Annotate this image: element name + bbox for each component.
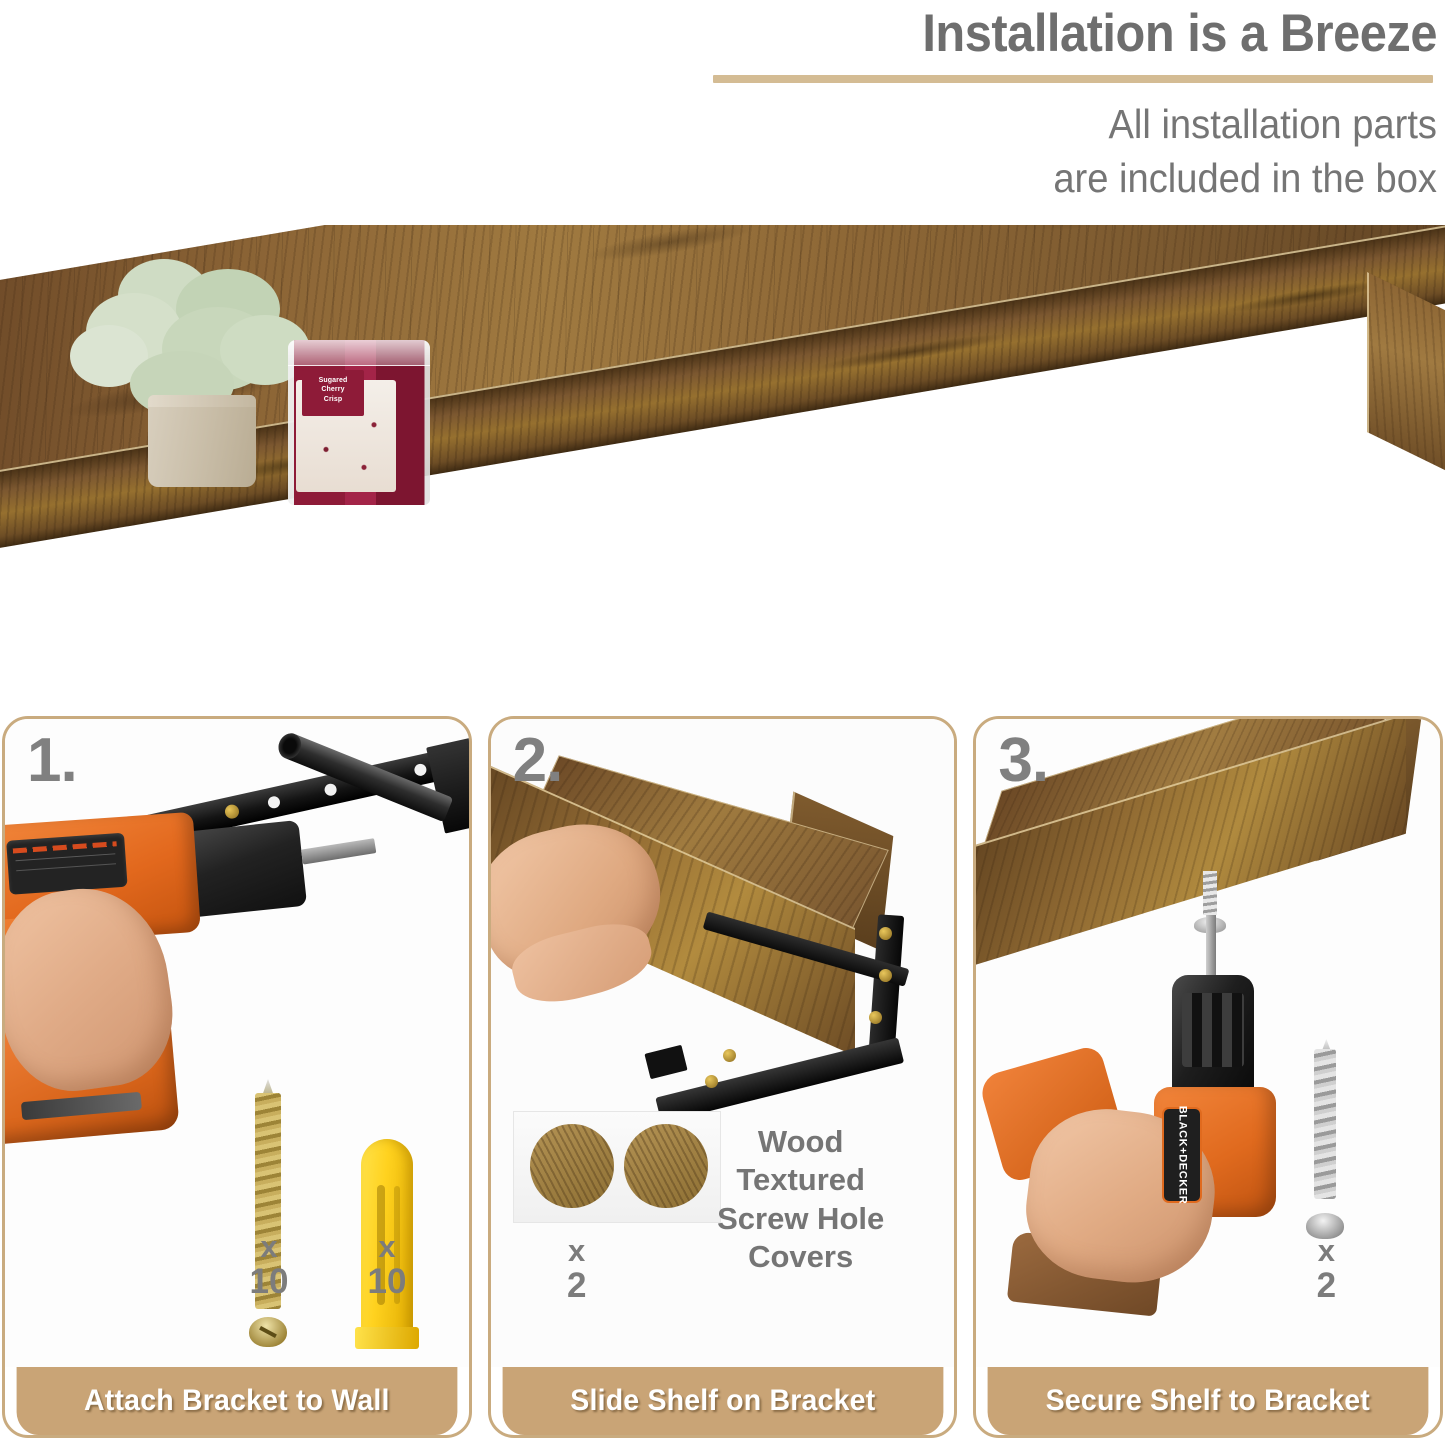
step-1-illustration: x 10 x 10 1. <box>5 719 469 1367</box>
step-2-illustration: x 2 Wood Textured Screw Hole Covers 2. <box>491 719 955 1367</box>
step-caption-1: Attach Bracket to Wall <box>17 1367 457 1435</box>
qty-value: 10 <box>250 1262 289 1301</box>
step-caption-2: Slide Shelf on Bracket <box>502 1367 942 1435</box>
step-caption-3: Secure Shelf to Bracket <box>988 1367 1428 1435</box>
qty-value: 2 <box>1317 1266 1336 1305</box>
header-subtitle-line-2: are included in the box <box>659 153 1437 205</box>
drill-spec-label <box>6 833 127 895</box>
hero-product-photo: Sugared Cherry Crisp <box>0 225 1445 675</box>
step-3-illustration: BLACK+DECKER x 2 3. <box>976 719 1440 1367</box>
screw-hole-covers-card <box>513 1111 721 1223</box>
title-underline-rule <box>713 75 1433 83</box>
steps-row: x 10 x 10 1. Attach Bracket to Wall <box>0 716 1445 1438</box>
securing-screw-quantity: x 2 <box>1288 1235 1364 1304</box>
decor-jar: Sugared Cherry Crisp <box>288 340 430 505</box>
jar-label-text: Sugared Cherry Crisp <box>302 370 364 416</box>
qty-value: 2 <box>567 1266 586 1305</box>
page-title: Installation is a Breeze <box>667 0 1437 63</box>
brand-logo-text: BLACK+DECKER <box>1176 1106 1188 1205</box>
qty-x-symbol: x <box>539 1235 615 1268</box>
securing-screw-part <box>1306 1039 1344 1239</box>
screw-hole-cover-1 <box>530 1124 614 1208</box>
wood-screw-quantity: x 10 <box>231 1231 307 1300</box>
black-decker-logo: BLACK+DECKER <box>1162 1107 1202 1203</box>
drill-chuck <box>1172 975 1254 1097</box>
step-panel-2[interactable]: x 2 Wood Textured Screw Hole Covers 2. S… <box>488 716 958 1438</box>
screw-hole-covers-note: Wood Textured Screw Hole Covers <box>691 1123 911 1277</box>
header-subtitle-line-1: All installation parts <box>659 99 1437 151</box>
step-number-1: 1. <box>27 725 77 796</box>
jar-label-line-3: Crisp <box>324 396 342 403</box>
wall-anchor-quantity: x 10 <box>349 1231 425 1300</box>
plant-pot <box>148 395 256 487</box>
step-panel-1[interactable]: x 10 x 10 1. Attach Bracket to Wall <box>2 716 472 1438</box>
qty-x-symbol: x <box>231 1231 307 1264</box>
infographic-page: Installation is a Breeze All installatio… <box>0 0 1445 1438</box>
screw-hole-cover-quantity: x 2 <box>539 1235 615 1304</box>
qty-x-symbol: x <box>349 1231 425 1264</box>
header: Installation is a Breeze All installatio… <box>600 0 1445 225</box>
step-panel-3[interactable]: BLACK+DECKER x 2 3. Secure Shelf to Brac… <box>973 716 1443 1438</box>
jar-label-line-2: Cherry <box>321 386 344 393</box>
wood-screw-part <box>249 1079 287 1347</box>
step-number-3: 3. <box>998 725 1048 796</box>
qty-x-symbol: x <box>1288 1235 1364 1268</box>
qty-value: 10 <box>368 1262 407 1301</box>
step-number-2: 2. <box>513 725 563 796</box>
jar-label-line-1: Sugared <box>319 377 348 384</box>
jar-lid <box>288 340 430 366</box>
